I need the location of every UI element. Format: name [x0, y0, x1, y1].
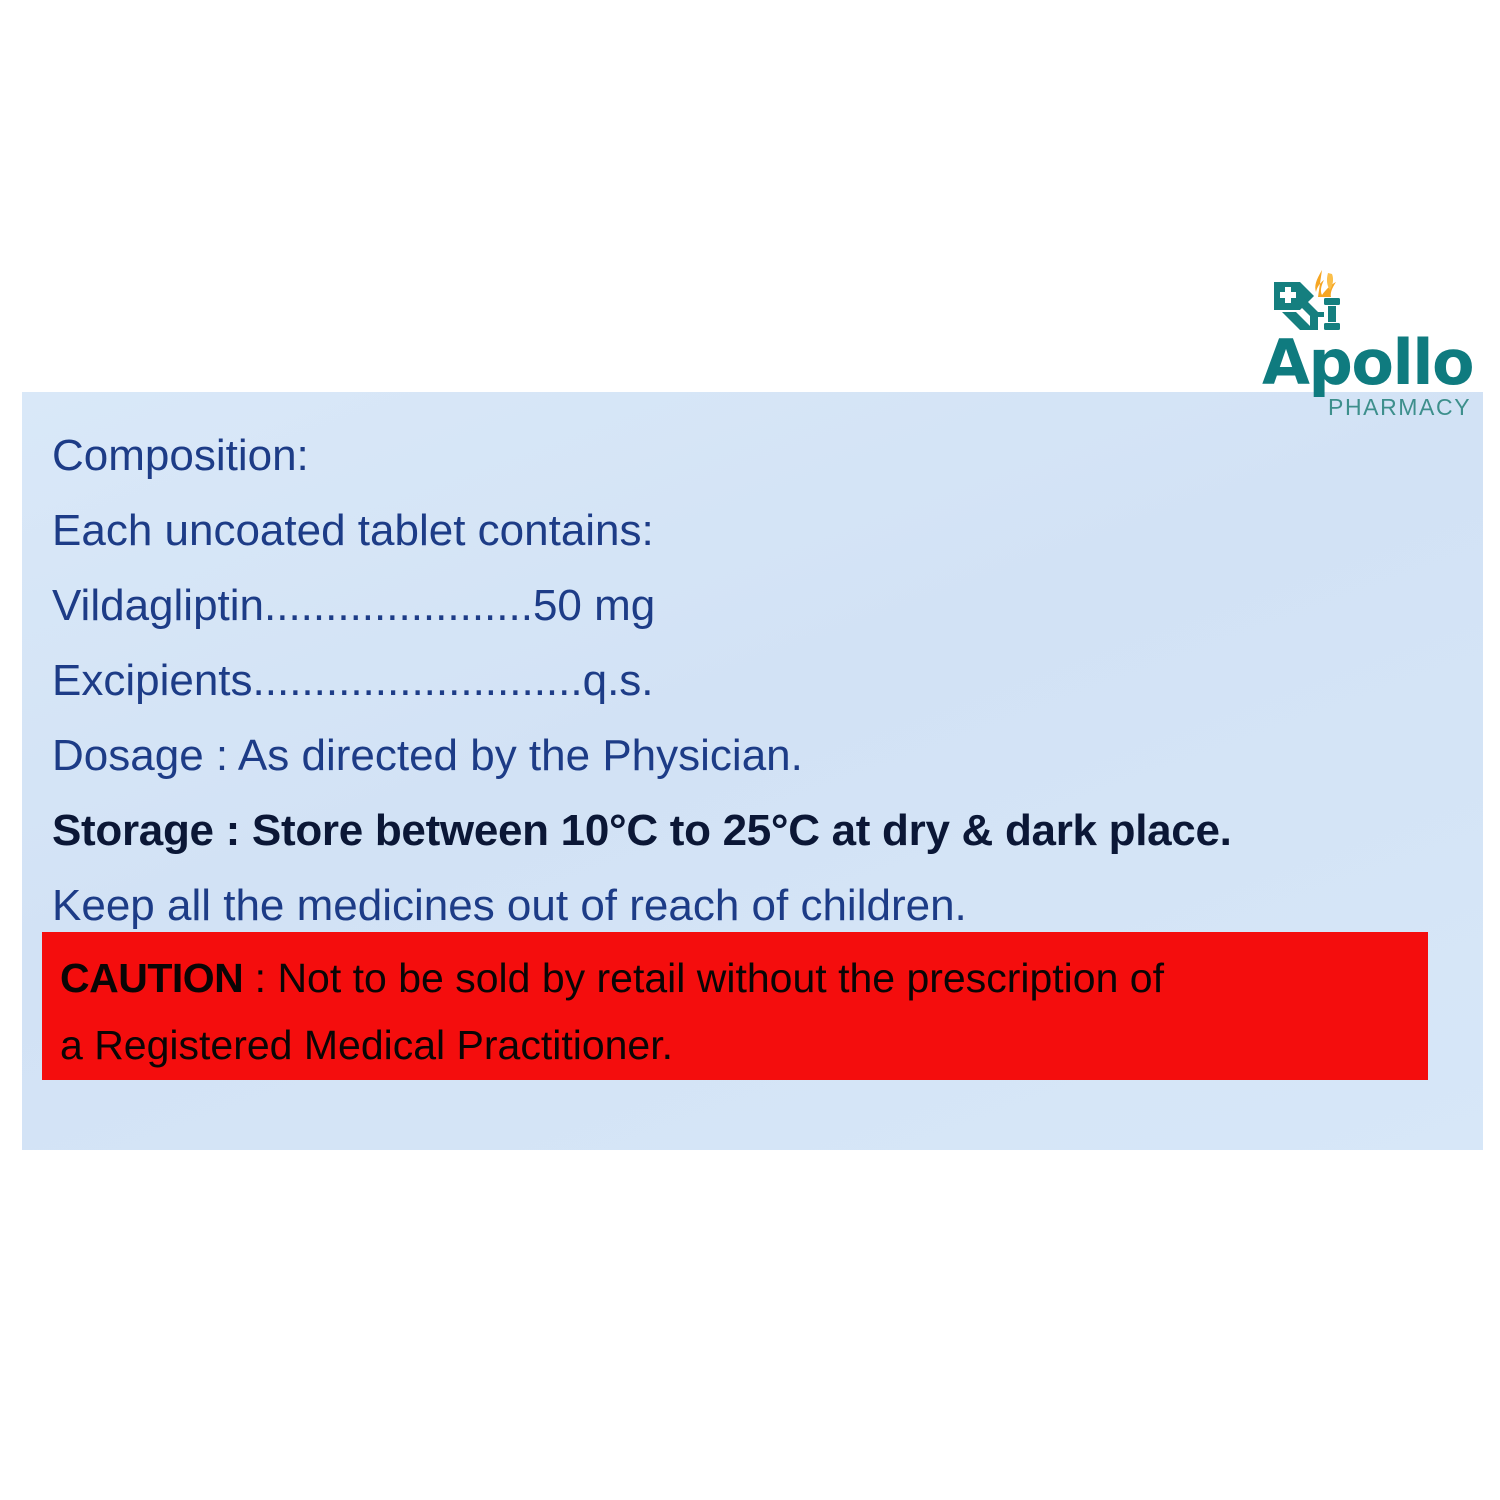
label-line-excipients: Excipients...........................q.s…	[52, 659, 1452, 703]
composition-text-block: Composition: Each uncoated tablet contai…	[52, 434, 1452, 959]
label-line-each-tablet-contains: Each uncoated tablet contains:	[52, 509, 1452, 553]
label-line-storage: Storage : Store between 10°C to 25°C at …	[52, 809, 1452, 853]
apollo-pharmacy-subtext: PHARMACY	[1328, 394, 1471, 421]
apollo-wordmark: Apollo	[1262, 332, 1480, 394]
label-line-vildagliptin: Vildagliptin......................50 mg	[52, 584, 1452, 628]
caution-line-2: a Registered Medical Practitioner.	[60, 1025, 1428, 1066]
label-line-keep-out-of-reach: Keep all the medicines out of reach of c…	[52, 884, 1452, 928]
label-line-dosage: Dosage : As directed by the Physician.	[52, 734, 1452, 778]
caution-banner: CAUTION : Not to be sold by retail witho…	[42, 932, 1428, 1080]
label-line-composition: Composition:	[52, 434, 1452, 478]
apollo-pharmacy-logo: Apollo PHARMACY	[1262, 268, 1487, 420]
caution-line-1-rest: : Not to be sold by retail without the p…	[243, 955, 1164, 1001]
caution-keyword: CAUTION	[60, 955, 243, 1001]
product-label-panel: Composition: Each uncoated tablet contai…	[22, 392, 1483, 1150]
caution-line-1: CAUTION : Not to be sold by retail witho…	[60, 958, 1428, 999]
